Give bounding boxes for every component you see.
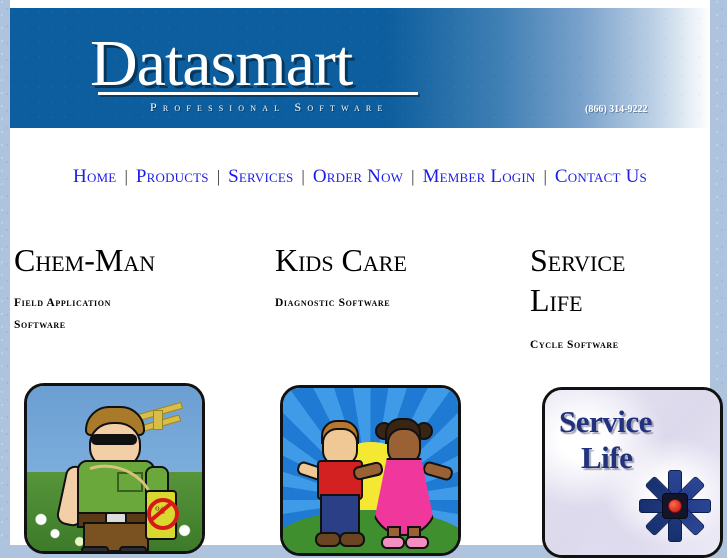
nav-separator: | [213, 167, 224, 186]
product-grid: Chem-Man Field Application Software [10, 240, 710, 545]
phone-number: (866) 314-9222 [585, 104, 648, 115]
product-subtitle-line1: Cycle Software [530, 334, 705, 356]
girl-left-shoe [381, 536, 405, 549]
girl-right-shoe [405, 536, 429, 549]
product-subtitle-line1: Field Application [14, 292, 164, 314]
right-boot-shape [119, 546, 147, 554]
nav-separator: | [407, 167, 418, 186]
product-column-chem-man: Chem-Man Field Application Software [14, 240, 264, 336]
product-subtitle-line2: Software [14, 314, 164, 336]
product-subtitle: Cycle Software [530, 334, 705, 356]
girl-figure [369, 418, 439, 548]
content-area: Datasmart Professional Software (866) 31… [10, 0, 710, 545]
product-subtitle: Field Application Software [14, 292, 164, 336]
nav-item-order-now[interactable]: Order Now [313, 166, 403, 187]
nav-separator: | [540, 167, 551, 186]
product-thumbnail-service-life[interactable]: Service Life [542, 387, 723, 558]
sunglasses-icon [91, 434, 137, 445]
nav-item-products[interactable]: Products [136, 166, 209, 187]
site-logo[interactable]: Datasmart Professional Software [88, 30, 428, 115]
main-navigation: Home | Products | Services | Order Now |… [10, 166, 710, 188]
left-boot-shape [81, 546, 109, 554]
logo-tagline: Professional Software [150, 100, 428, 115]
no-chemical-symbol-icon: % [147, 498, 179, 530]
product-subtitle-line1: Diagnostic Software [275, 292, 525, 314]
gear-starburst-icon [637, 468, 711, 542]
product-column-kids-care: Kids Care Diagnostic Software [275, 240, 525, 314]
product-thumbnail-chem-man[interactable]: % [24, 383, 205, 554]
gear-center-dot [668, 499, 682, 513]
product-title-line1: Service [530, 242, 625, 278]
nav-separator: | [297, 167, 308, 186]
product-title: Kids Care [275, 240, 525, 280]
service-life-logo-text: Service Life [559, 404, 652, 476]
product-title: Service Life [530, 240, 705, 320]
product-thumbnail-kids-care[interactable] [280, 385, 461, 556]
product-title-line2: Life [530, 282, 583, 318]
boy-figure [307, 420, 369, 548]
nav-item-home[interactable]: Home [73, 166, 116, 187]
product-subtitle: Diagnostic Software [275, 292, 525, 314]
product-title: Chem-Man [14, 240, 264, 280]
logo-line1: Service [559, 404, 652, 439]
nav-item-services[interactable]: Services [228, 166, 293, 187]
site-banner: Datasmart Professional Software (866) 31… [10, 8, 710, 128]
logo-wordmark: Datasmart [88, 30, 428, 98]
page-root: Datasmart Professional Software (866) 31… [0, 0, 727, 545]
nav-item-contact-us[interactable]: Contact Us [555, 166, 647, 187]
nav-separator: | [120, 167, 131, 186]
product-column-service-life: Service Life Cycle Software Service Life [530, 240, 705, 356]
nav-item-member-login[interactable]: Member Login [423, 166, 536, 187]
